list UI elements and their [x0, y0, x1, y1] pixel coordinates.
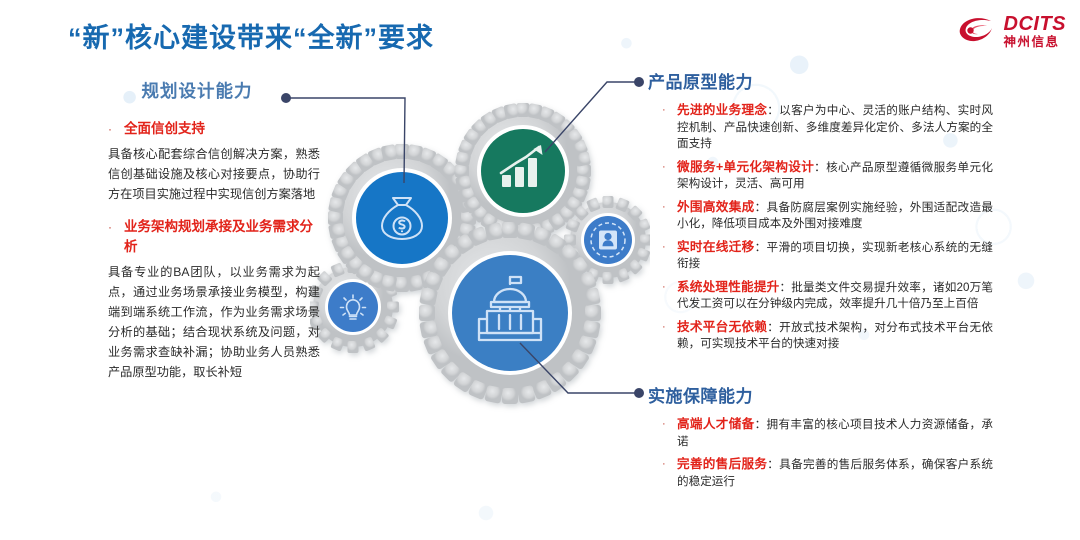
bullet-dot-icon: · — [662, 319, 668, 353]
page-title: “新”核心建设带来“全新”要求 — [68, 16, 434, 55]
left-section-heading: 规划设计能力 — [108, 78, 320, 103]
right-top-heading: 产品原型能力 — [648, 68, 993, 93]
logo-name: DCITS — [1004, 14, 1067, 34]
list-item-text: 完善的售后服务：具备完善的售后服务体系，确保客户系统的稳定运行 — [677, 456, 993, 490]
list-item: · 高端人才储备：拥有丰富的核心项目技术人力资源储备，承诺 — [662, 416, 993, 450]
left-block-1-bullet: · 全面信创支持 — [108, 119, 320, 139]
left-block-1-key: 全面信创支持 — [124, 119, 205, 139]
left-block-1: · 全面信创支持 具备核心配套综合信创解决方案，熟悉信创基础设施及核心对接要点，… — [108, 119, 320, 204]
list-item-key: 完善的售后服务 — [677, 457, 767, 471]
list-item-key: 实时在线迁移 — [677, 240, 755, 254]
list-item: · 微服务+单元化架构设计：核心产品原型遵循微服务单元化架构设计，灵活、高可用 — [662, 159, 993, 193]
list-item-text: 先进的业务理念：以客户为中心、灵活的账户结构、实时风控机制、产品快速创新、多维度… — [677, 102, 993, 153]
gear-cluster-illustration — [310, 85, 650, 425]
dcits-swoosh-icon — [957, 15, 997, 47]
right-bottom-list: · 高端人才储备：拥有丰富的核心项目技术人力资源储备，承诺 · 完善的售后服务：… — [648, 416, 993, 490]
list-item: · 实时在线迁移：平滑的项目切换，实现新老核心系统的无缝衔接 — [662, 239, 993, 273]
bullet-dot-icon: · — [662, 102, 668, 153]
list-item-text: 系统处理性能提升：批量类文件交易提升效率，诸如20万笔代发工资可以在分钟级内完成… — [677, 279, 993, 313]
list-item: · 技术平台无依赖：开放式技术架构，对分布式技术平台无依赖，可实现技术平台的快速… — [662, 319, 993, 353]
list-item-text: 外围高效集成：具备防腐层案例实施经验，外围适配改造最小化，降低项目成本及外围对接… — [677, 199, 993, 233]
bullet-dot-icon: · — [108, 119, 116, 139]
left-block-2: · 业务架构规划承接及业务需求分析 具备专业的BA团队，以业务需求为起点，通过业… — [108, 217, 320, 382]
list-item: · 完善的售后服务：具备完善的售后服务体系，确保客户系统的稳定运行 — [662, 456, 993, 490]
list-item-text: 微服务+单元化架构设计：核心产品原型遵循微服务单元化架构设计，灵活、高可用 — [677, 159, 993, 193]
list-item: · 外围高效集成：具备防腐层案例实施经验，外围适配改造最小化，降低项目成本及外围… — [662, 199, 993, 233]
bullet-dot-icon: · — [662, 456, 668, 490]
list-item-text: 实时在线迁移：平滑的项目切换，实现新老核心系统的无缝衔接 — [677, 239, 993, 273]
bullet-dot-icon: · — [662, 159, 668, 193]
left-block-2-bullet: · 业务架构规划承接及业务需求分析 — [108, 217, 320, 257]
bullet-dot-icon: · — [662, 239, 668, 273]
logo-subtitle: 神州信息 — [1004, 36, 1067, 49]
bullet-dot-icon: · — [662, 279, 668, 313]
left-block-2-body: 具备专业的BA团队，以业务需求为起点，通过业务场景承接业务模型，构建端到端系统工… — [108, 262, 320, 382]
list-item-text: 技术平台无依赖：开放式技术架构，对分布式技术平台无依赖，可实现技术平台的快速对接 — [677, 319, 993, 353]
list-item: · 先进的业务理念：以客户为中心、灵活的账户结构、实时风控机制、产品快速创新、多… — [662, 102, 993, 153]
left-block-1-body: 具备核心配套综合信创解决方案，熟悉信创基础设施及核心对接要点，协助行方在项目实施… — [108, 144, 320, 204]
list-item-key: 外围高效集成 — [677, 200, 755, 214]
list-item-text: 高端人才储备：拥有丰富的核心项目技术人力资源储备，承诺 — [677, 416, 993, 450]
list-item-key: 系统处理性能提升 — [677, 280, 779, 294]
right-top-list: · 先进的业务理念：以客户为中心、灵活的账户结构、实时风控机制、产品快速创新、多… — [648, 102, 993, 353]
bullet-dot-icon: · — [108, 217, 116, 257]
left-column: 规划设计能力 · 全面信创支持 具备核心配套综合信创解决方案，熟悉信创基础设施及… — [108, 78, 320, 395]
list-item-key: 先进的业务理念 — [677, 103, 767, 117]
bullet-dot-icon: · — [662, 416, 668, 450]
list-item: · 系统处理性能提升：批量类文件交易提升效率，诸如20万笔代发工资可以在分钟级内… — [662, 279, 993, 313]
right-bottom-column: 实施保障能力 · 高端人才储备：拥有丰富的核心项目技术人力资源储备，承诺 · 完… — [648, 382, 993, 496]
list-item-key: 微服务+单元化架构设计 — [677, 160, 814, 174]
bullet-dot-icon: · — [662, 199, 668, 233]
list-item-key: 高端人才储备 — [677, 417, 755, 431]
left-block-2-key: 业务架构规划承接及业务需求分析 — [124, 217, 320, 257]
list-item-key: 技术平台无依赖 — [677, 320, 767, 334]
right-top-column: 产品原型能力 · 先进的业务理念：以客户为中心、灵活的账户结构、实时风控机制、产… — [648, 68, 993, 359]
company-logo: DCITS 神州信息 — [957, 14, 1067, 49]
right-bottom-heading: 实施保障能力 — [648, 382, 993, 407]
